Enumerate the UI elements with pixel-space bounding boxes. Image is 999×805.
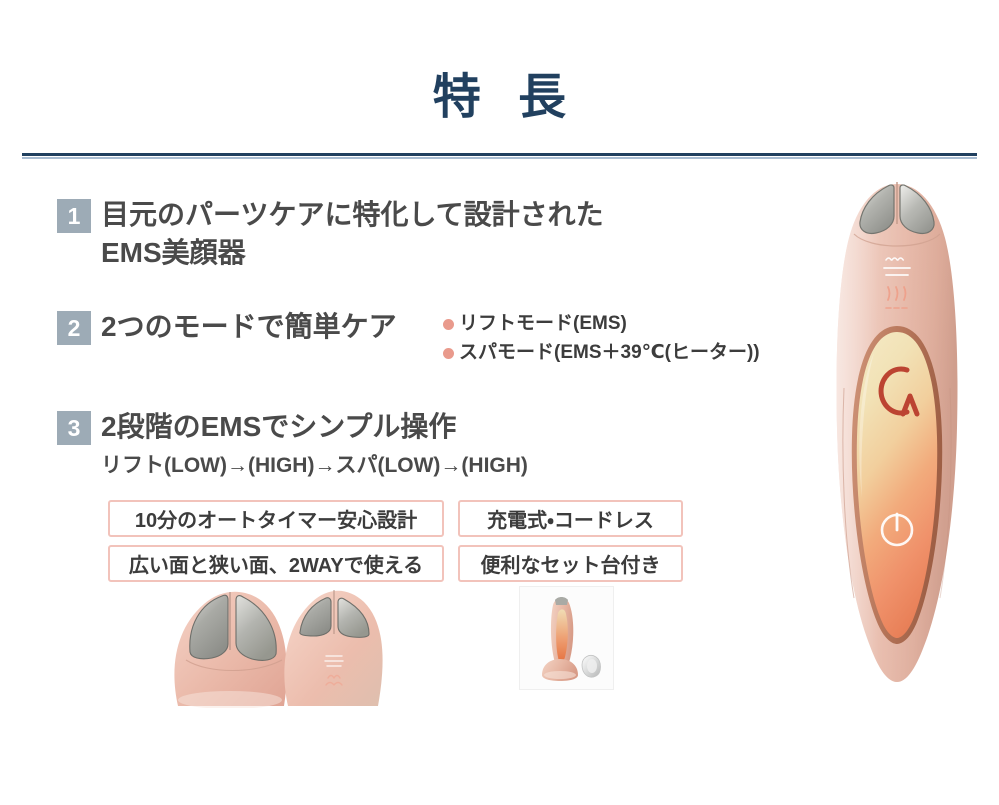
feature-item-1: 1 目元のパーツケアに特化して設計された EMS美顔器 — [57, 196, 604, 271]
spec-box-charging-stand: 便利なセット台付き — [458, 545, 683, 582]
feature-item-2: 2 2つのモードで簡単ケア — [57, 308, 397, 346]
feature-body-2: 2つのモードで簡単ケア — [101, 308, 397, 346]
feature-heading-3: 2段階のEMSでシンプル操作 — [101, 408, 528, 446]
mode-label-lift: リフトモード(EMS) — [459, 310, 627, 339]
title-divider-shadow — [22, 157, 977, 159]
page-title: 特 長 — [0, 72, 999, 125]
mode-list-item-lift: リフトモード(EMS) — [443, 310, 760, 339]
feature-heading-1-line2: EMS美顔器 — [101, 234, 604, 272]
feature-heading-2: 2つのモードで簡単ケア — [101, 308, 397, 346]
head-narrow-face — [284, 590, 382, 706]
spec-box-2way: 広い面と狭い面、2WAYで使える — [108, 545, 444, 582]
mode-label-spa: スパモード(EMS＋39℃(ヒーター)) — [459, 339, 760, 368]
feature-badge-2: 2 — [57, 311, 91, 345]
feature-badge-3: 3 — [57, 411, 91, 445]
mode-list: リフトモード(EMS) スパモード(EMS＋39℃(ヒーター)) — [443, 310, 760, 368]
product-device-image — [812, 178, 982, 698]
bullet-dot-icon — [443, 319, 454, 330]
mode-list-item-spa: スパモード(EMS＋39℃(ヒーター)) — [443, 339, 760, 368]
charging-stand-thumbnail — [519, 586, 614, 690]
feature-badge-1: 1 — [57, 199, 91, 233]
head-wide-face — [174, 592, 286, 708]
feature-page: 特 長 1 目元のパーツケアに特化して設計された EMS美顔器 2 2つのモード… — [0, 0, 999, 805]
feature-body-3: 2段階のEMSでシンプル操作 リフト(LOW)→(HIGH)→スパ(LOW)→(… — [101, 408, 528, 480]
device-head-closeup-image — [160, 578, 390, 708]
feature-heading-1-line1: 目元のパーツケアに特化して設計された — [101, 196, 604, 234]
spec-box-auto-timer: 10分のオートタイマー安心設計 — [108, 500, 444, 537]
feature-item-3: 3 2段階のEMSでシンプル操作 リフト(LOW)→(HIGH)→スパ(LOW)… — [57, 408, 528, 480]
bullet-dot-icon — [443, 348, 454, 359]
spec-box-cordless: 充電式・コードレス — [458, 500, 683, 537]
feature-body-1: 目元のパーツケアに特化して設計された EMS美顔器 — [101, 196, 604, 271]
feature-subtext-3: リフト(LOW)→(HIGH)→スパ(LOW)→(HIGH) — [101, 451, 528, 480]
title-divider — [22, 153, 977, 156]
